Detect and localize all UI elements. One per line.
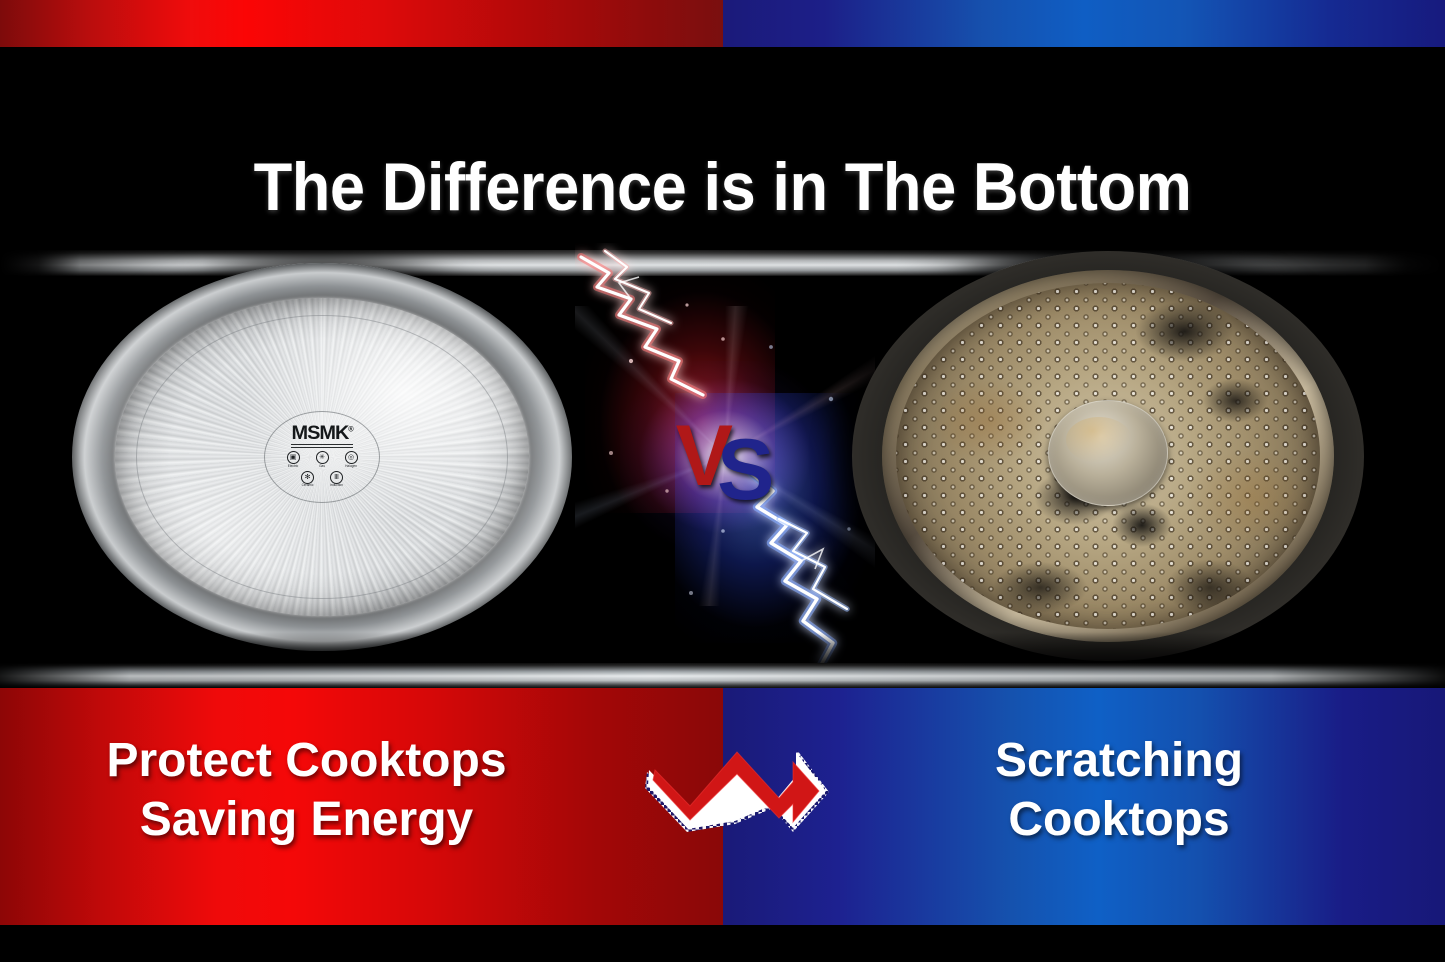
top-gradient-bar <box>0 0 1445 47</box>
ceramic-cooktop-glyph: ✻ <box>301 471 314 484</box>
electric-cooktop-glyph: ▣ <box>287 451 300 464</box>
electric-cooktop-icon: ▣ Electric <box>282 451 304 468</box>
msmk-wordmark: MSMK® <box>291 424 352 443</box>
top-bar-red-half <box>0 0 723 47</box>
red-caption-line-1: Protect Cooktops <box>0 732 613 791</box>
cooktop-icon-row-bottom: ✻ Ceramic Ⅲ Induction <box>297 471 348 488</box>
strip-vignette-right <box>1365 243 1445 668</box>
cooktop-icon-row-top: ▣ Electric ✳ Gas ◎ Halogen <box>282 451 362 468</box>
induction-cooktop-icon: Ⅲ Induction <box>326 471 348 488</box>
logo-divider-rule <box>291 444 353 448</box>
registered-trademark-icon: ® <box>348 427 352 434</box>
page-title: The Difference is in The Bottom <box>51 153 1395 221</box>
left-pan-photo-good-bottom: MSMK® ▣ Electric ✳ Gas ◎ Halogen <box>72 263 572 651</box>
red-caption-panel: Protect Cooktops Saving Energy <box>0 688 723 925</box>
worn-pan-disc <box>896 283 1320 629</box>
induction-cooktop-glyph: Ⅲ <box>330 471 343 484</box>
ceramic-cooktop-label: Ceramic <box>302 484 314 487</box>
vs-label: VS <box>676 413 775 499</box>
blue-caption-line-1: Scratching <box>793 732 1445 791</box>
zigzag-down-arrow-icon <box>643 728 833 838</box>
worn-pan-center-disc <box>1048 400 1168 506</box>
bottom-black-border <box>0 925 1445 962</box>
ceramic-cooktop-icon: ✻ Ceramic <box>297 471 319 488</box>
msmk-logo-medallion: MSMK® ▣ Electric ✳ Gas ◎ Halogen <box>264 411 380 503</box>
halogen-cooktop-icon: ◎ Halogen <box>340 451 362 468</box>
title-area: The Difference is in The Bottom <box>0 47 1445 243</box>
vs-lightning-graphic: VS <box>575 243 875 668</box>
halogen-cooktop-label: Halogen <box>345 465 357 468</box>
gas-cooktop-icon: ✳ Gas <box>311 451 333 468</box>
brushed-steel-disc: MSMK® ▣ Electric ✳ Gas ◎ Halogen <box>115 298 529 616</box>
top-bar-blue-half <box>723 0 1445 47</box>
blue-caption-line-2: Cooktops <box>793 791 1445 850</box>
gas-cooktop-glyph: ✳ <box>316 451 329 464</box>
vs-letter-s: S <box>717 427 774 513</box>
red-panel-caption: Protect Cooktops Saving Energy <box>0 732 723 849</box>
right-pan-photo-worn-bottom <box>852 251 1364 661</box>
bottom-metallic-rim-band <box>0 663 1445 688</box>
electric-cooktop-label: Electric <box>288 465 298 468</box>
strip-vignette-left <box>0 243 80 668</box>
red-caption-line-2: Saving Energy <box>0 791 613 850</box>
induction-cooktop-label: Induction <box>330 484 343 487</box>
comparison-photo-strip: MSMK® ▣ Electric ✳ Gas ◎ Halogen <box>0 243 1445 668</box>
msmk-brand-text: MSMK <box>291 423 348 444</box>
halogen-cooktop-glyph: ◎ <box>345 451 358 464</box>
red-lightning-bolt <box>581 251 703 395</box>
gas-cooktop-label: Gas <box>319 465 325 468</box>
